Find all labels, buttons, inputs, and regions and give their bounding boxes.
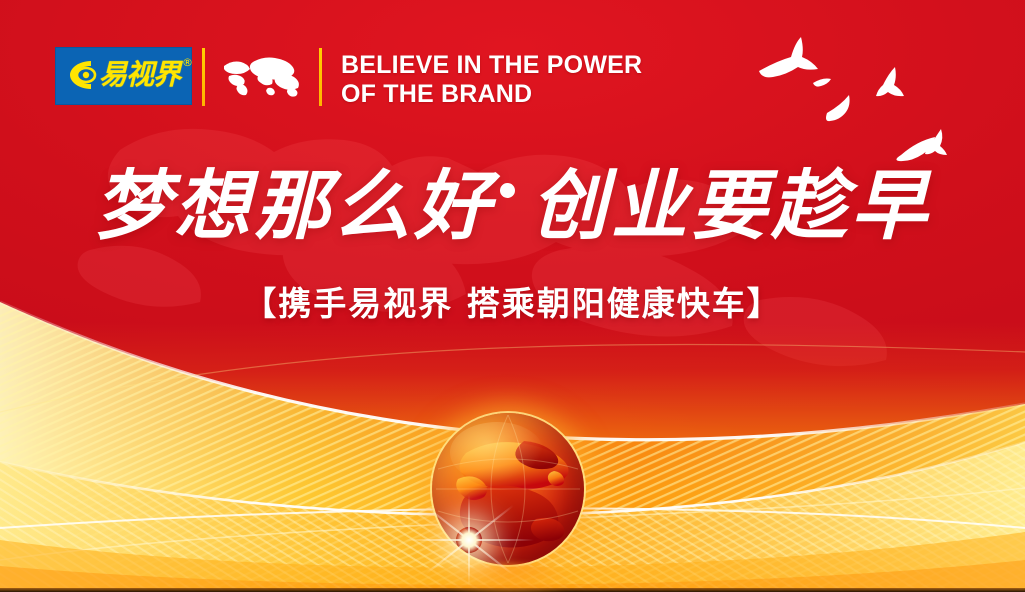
flying-doves-icon bbox=[745, 25, 1015, 165]
subtitle: 【携手易视界 搭乘朝阳健康快车】 bbox=[0, 287, 1025, 320]
brand-logo[interactable]: 易视界 ® bbox=[55, 47, 192, 105]
headline-part-1: 梦想那么好 bbox=[94, 168, 494, 244]
divider-bar-right bbox=[319, 48, 322, 106]
headline-separator-dot bbox=[500, 183, 515, 198]
brand-slogan: BELIEVE IN THE POWER OF THE BRAND bbox=[341, 51, 642, 110]
brand-name-text: 易视界 bbox=[99, 61, 180, 89]
divider-bar-left bbox=[202, 48, 205, 106]
headline-part-2: 创业要趁早 bbox=[531, 168, 931, 244]
world-map-icon bbox=[220, 52, 306, 100]
globe-highlight bbox=[450, 422, 544, 483]
registered-trademark-icon: ® bbox=[182, 56, 193, 69]
eye-e-monogram-icon bbox=[67, 58, 97, 92]
headline: 梦想那么好创业要趁早 bbox=[0, 168, 1025, 244]
promo-banner: 易视界 ® BELIEVE IN THE POWER OF THE BRAND bbox=[0, 0, 1025, 592]
glowing-globe-icon bbox=[432, 413, 584, 565]
globe-graphic bbox=[432, 413, 584, 565]
